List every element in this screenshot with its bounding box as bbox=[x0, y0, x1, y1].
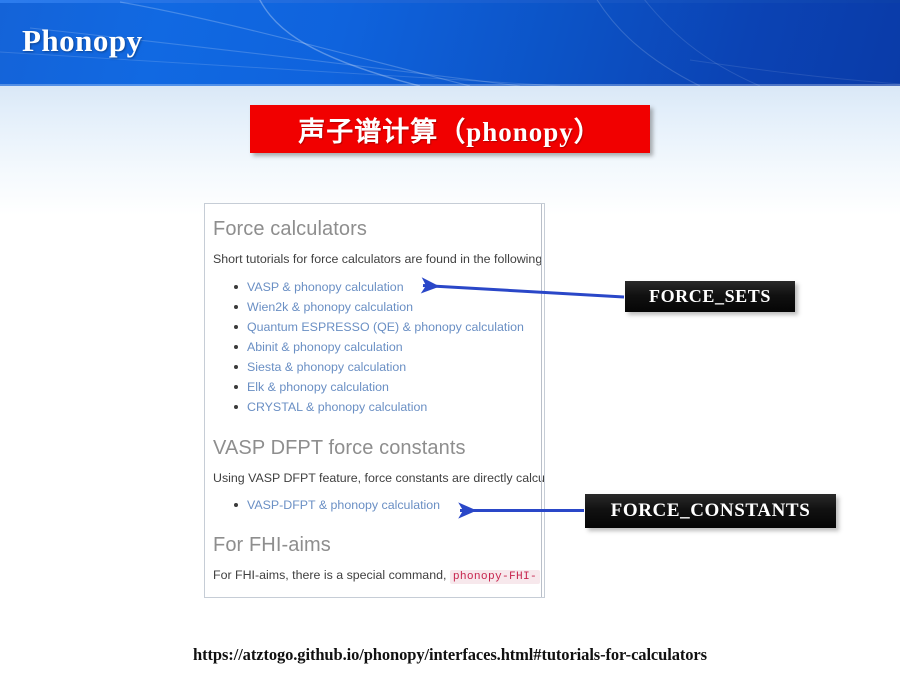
red-banner-label: 声子谱计算（phonopy） bbox=[298, 110, 602, 149]
paragraph-vasp-dfpt: Using VASP DFPT feature, force constants… bbox=[213, 470, 545, 487]
paragraph-fhi-aims-text: For FHI-aims, there is a special command… bbox=[213, 568, 450, 582]
heading-for-fhi-aims: For FHI-aims bbox=[213, 532, 545, 558]
documentation-screenshot-panel: Force calculators Short tutorials for fo… bbox=[204, 203, 545, 598]
list-item[interactable]: Siesta & phonopy calculation bbox=[247, 357, 545, 377]
callout-force-sets-label: FORCE_SETS bbox=[649, 286, 771, 307]
header-bottom-rule bbox=[0, 84, 900, 86]
documentation-content: Force calculators Short tutorials for fo… bbox=[205, 204, 545, 586]
callout-force-sets: FORCE_SETS bbox=[625, 281, 795, 312]
dfpt-link-list: VASP-DFPT & phonopy calculation bbox=[213, 495, 545, 515]
code-command: phonopy-FHI- bbox=[450, 570, 540, 584]
callout-force-constants: FORCE_CONSTANTS bbox=[585, 494, 836, 528]
paragraph-force-calculators: Short tutorials for force calculators ar… bbox=[213, 251, 545, 268]
list-item[interactable]: VASP-DFPT & phonopy calculation bbox=[247, 495, 545, 515]
list-item[interactable]: Wien2k & phonopy calculation bbox=[247, 297, 545, 317]
document-column-rule bbox=[541, 204, 542, 598]
page-title: Phonopy bbox=[22, 23, 143, 59]
list-item[interactable]: Quantum ESPRESSO (QE) & phonopy calculat… bbox=[247, 317, 545, 337]
list-item[interactable]: VASP & phonopy calculation bbox=[247, 277, 545, 297]
red-title-banner: 声子谱计算（phonopy） bbox=[250, 105, 650, 153]
heading-force-calculators: Force calculators bbox=[213, 216, 545, 242]
list-item[interactable]: Abinit & phonopy calculation bbox=[247, 337, 545, 357]
paragraph-fhi-aims: For FHI-aims, there is a special command… bbox=[213, 567, 545, 586]
heading-vasp-dfpt-force-constants: VASP DFPT force constants bbox=[213, 435, 545, 461]
force-calculator-link-list: VASP & phonopy calculation Wien2k & phon… bbox=[213, 277, 545, 417]
list-item[interactable]: Elk & phonopy calculation bbox=[247, 377, 545, 397]
list-item[interactable]: CRYSTAL & phonopy calculation bbox=[247, 397, 545, 417]
slide-canvas: Phonopy 声子谱计算（phonopy） Force calculators… bbox=[0, 0, 900, 675]
callout-force-constants-label: FORCE_CONSTANTS bbox=[611, 500, 811, 522]
source-url[interactable]: https://atztogo.github.io/phonopy/interf… bbox=[0, 645, 900, 665]
